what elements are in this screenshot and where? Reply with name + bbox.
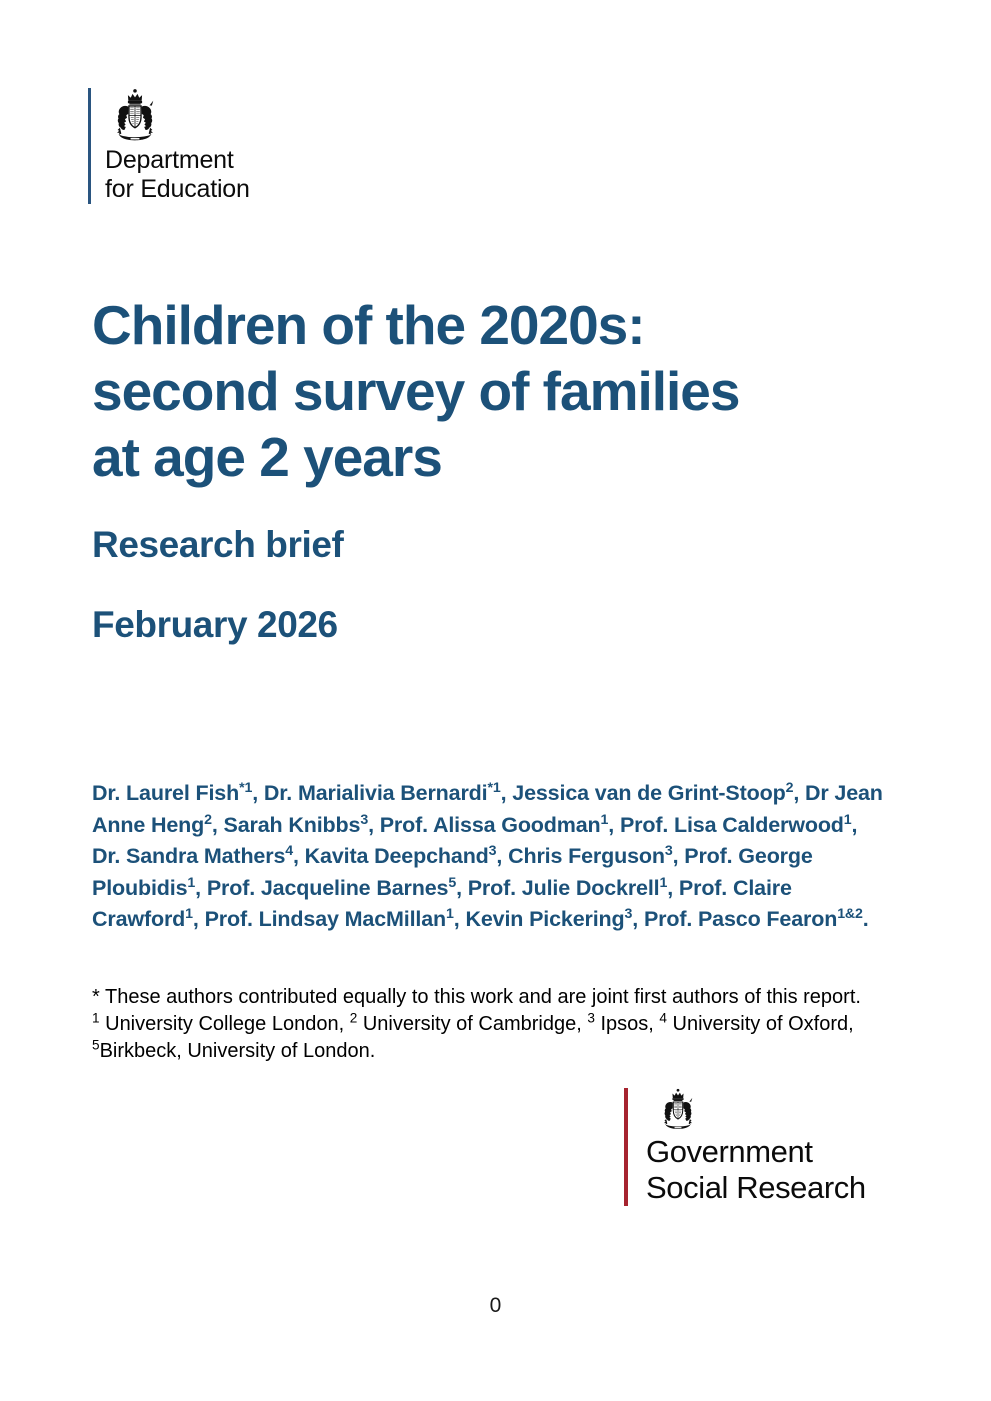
- page-title: Children of the 2020s: second survey of …: [92, 292, 892, 490]
- author-affiliation-mark: 3: [625, 906, 633, 922]
- affiliation-mark: 1: [92, 1010, 100, 1025]
- author-affiliation-mark: 1: [446, 906, 454, 922]
- royal-coat-of-arms-icon: [105, 88, 165, 143]
- author-affiliation-mark: 5: [448, 874, 456, 890]
- author-name: Prof. Julie Dockrell: [468, 876, 660, 900]
- dfe-logo: Department for Education: [88, 88, 250, 204]
- document-type-subtitle: Research brief: [92, 523, 892, 567]
- author-name: Prof. Lindsay MacMillan: [205, 907, 446, 931]
- affiliation-mark: 3: [587, 1010, 595, 1025]
- gsr-logo-body: Government Social Research: [628, 1088, 866, 1206]
- government-social-research-logo: Government Social Research: [624, 1088, 866, 1206]
- page-number: 0: [0, 1294, 991, 1318]
- affiliation-text: University of Cambridge,: [357, 1013, 587, 1035]
- author-name: Prof. Pasco Fearon: [644, 907, 837, 931]
- author-affiliation-mark: 1: [660, 874, 668, 890]
- author-affiliation-mark: 2: [786, 780, 794, 796]
- affiliations-note: 1 University College London, 2 Universit…: [92, 1011, 892, 1065]
- author-affiliation-mark: 1: [601, 811, 609, 827]
- title-block: Children of the 2020s: second survey of …: [92, 292, 892, 647]
- author-affiliation-mark: 4: [285, 843, 293, 859]
- author-name: Kevin Pickering: [465, 907, 624, 931]
- author-affiliation-mark: 1: [187, 874, 195, 890]
- author-list: Dr. Laurel Fish*1, Dr. Marialivia Bernar…: [92, 778, 884, 936]
- author-affiliation-mark: 3: [360, 811, 368, 827]
- author-affiliation-mark: 3: [665, 843, 673, 859]
- document-page: Department for Education Children of the…: [0, 0, 991, 1401]
- author-affiliation-mark: 1&2: [837, 906, 863, 922]
- author-affiliation-mark: 2: [204, 811, 212, 827]
- author-affiliation-mark: 1: [844, 811, 852, 827]
- author-name: Chris Ferguson: [508, 844, 665, 868]
- author-affiliation-mark: 3: [489, 843, 497, 859]
- author-name: Dr. Laurel Fish: [92, 781, 239, 805]
- author-affiliation-mark: 1: [185, 906, 193, 922]
- author-name: Prof. Alissa Goodman: [380, 813, 601, 837]
- dfe-logo-text: Department for Education: [105, 146, 250, 204]
- royal-coat-of-arms-icon: [646, 1088, 710, 1131]
- author-name: Prof. Jacqueline Barnes: [207, 876, 449, 900]
- affiliation-text: Birkbeck, University of London.: [100, 1040, 376, 1062]
- equal-contribution-note: * These authors contributed equally to t…: [92, 984, 892, 1011]
- affiliation-mark: 5: [92, 1037, 100, 1052]
- gsr-logo-text: Government Social Research: [646, 1134, 866, 1206]
- author-name: Kavita Deepchand: [305, 844, 489, 868]
- affiliation-text: University College London,: [100, 1013, 350, 1035]
- author-affiliation-mark: *1: [487, 780, 500, 796]
- author-name: Dr. Sandra Mathers: [92, 844, 285, 868]
- affiliation-text: University of Oxford,: [667, 1013, 854, 1035]
- affiliation-mark: 4: [659, 1010, 667, 1025]
- author-name: Sarah Knibbs: [224, 813, 361, 837]
- author-affiliation-mark: *1: [239, 780, 252, 796]
- publication-date: February 2026: [92, 603, 892, 647]
- author-name: Jessica van de Grint-Stoop: [512, 781, 785, 805]
- author-name: Dr. Marialivia Bernardi: [264, 781, 488, 805]
- author-name: Prof. Lisa Calderwood: [620, 813, 844, 837]
- footnotes-block: * These authors contributed equally to t…: [92, 984, 892, 1065]
- affiliation-text: Ipsos,: [595, 1013, 659, 1035]
- dfe-logo-body: Department for Education: [91, 88, 250, 204]
